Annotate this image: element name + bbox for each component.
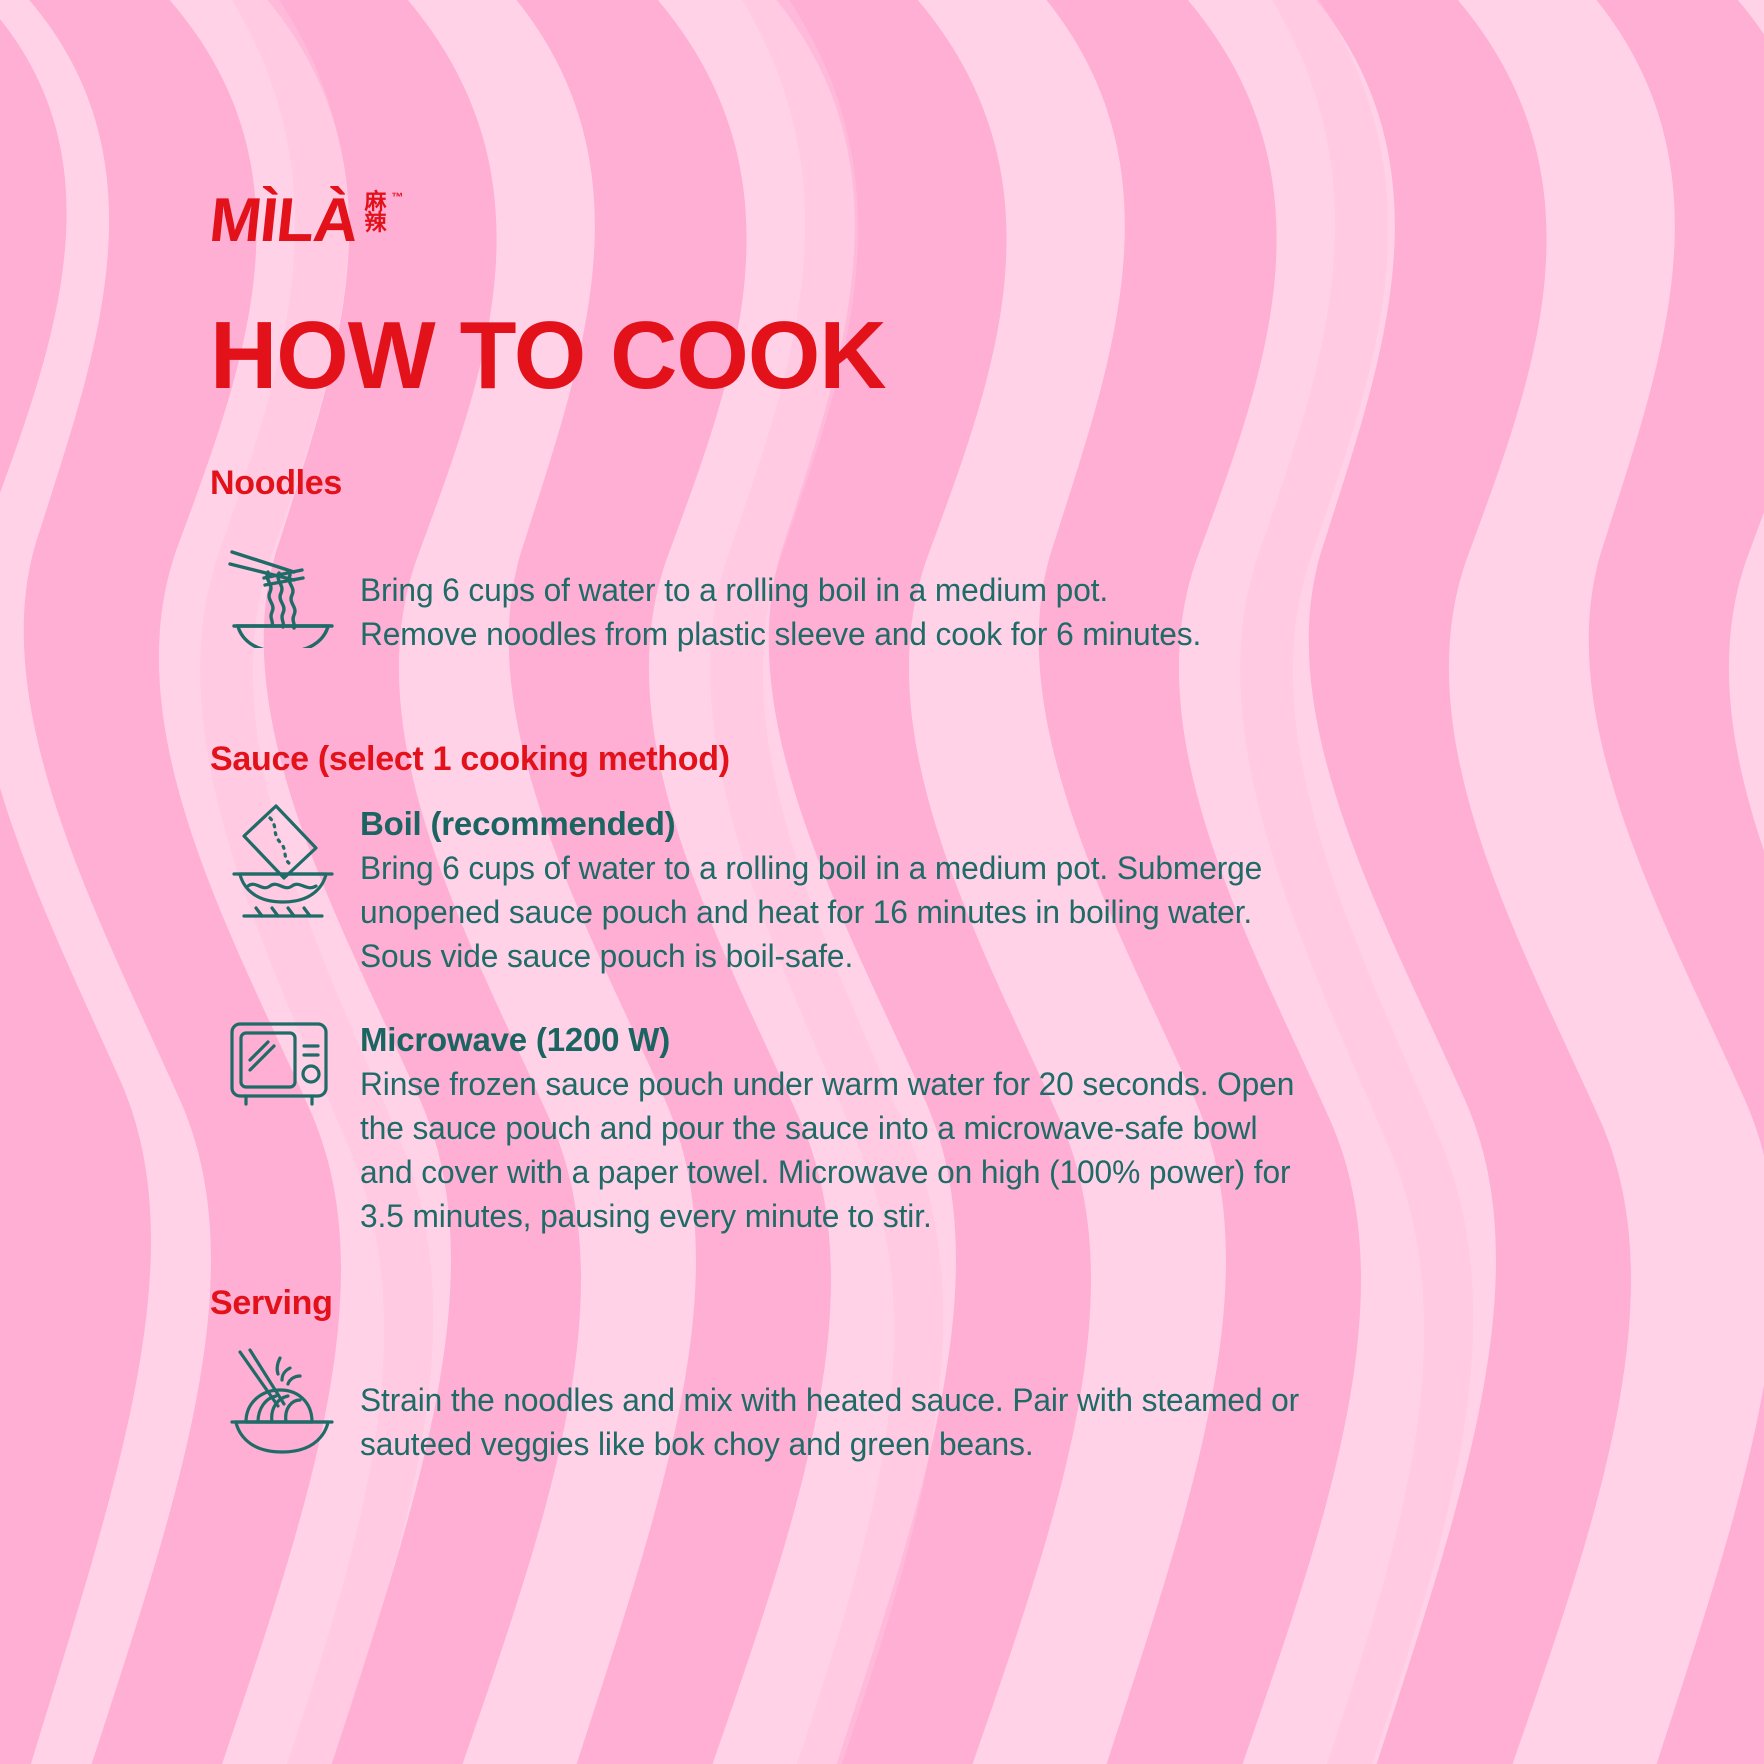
trademark-symbol: ™ xyxy=(392,191,404,203)
brand-cjk-bottom: 辣 xyxy=(365,213,387,233)
icon-cell xyxy=(210,1016,360,1112)
card-content: MÌLÀ 麻 辣 ™ HOW TO COOK Noodles xyxy=(0,0,1764,1466)
text-cell: Bring 6 cups of water to a rolling boil … xyxy=(360,528,1210,656)
instruction-line: Remove noodles from plastic sleeve and c… xyxy=(360,612,1201,656)
brand-wordmark: MÌLÀ xyxy=(207,190,361,252)
instruction-line: unopened sauce pouch and heat for 16 min… xyxy=(360,890,1262,934)
text-cell: Strain the noodles and mix with heated s… xyxy=(360,1344,1309,1466)
section-heading-sauce: Sauce (select 1 cooking method) xyxy=(210,740,1764,778)
microwave-oven-icon xyxy=(224,1016,334,1112)
instruction-row-boil: Boil (recommended) Bring 6 cups of water… xyxy=(210,800,1764,978)
section-heading-noodles: Noodles xyxy=(210,464,1764,502)
section-heading-serving: Serving xyxy=(210,1284,1764,1322)
recipe-card: MÌLÀ 麻 辣 ™ HOW TO COOK Noodles xyxy=(0,0,1764,1764)
instruction-line: sauteed veggies like bok choy and green … xyxy=(360,1422,1299,1466)
page-title: HOW TO COOK xyxy=(210,308,1717,404)
instruction-row-microwave: Microwave (1200 W) Rinse frozen sauce po… xyxy=(210,1016,1764,1238)
noodle-bowl-serving-icon xyxy=(224,1344,342,1462)
brand-logo: MÌLÀ 麻 辣 ™ xyxy=(210,190,1764,260)
text-cell: Microwave (1200 W) Rinse frozen sauce po… xyxy=(360,1016,1304,1238)
instruction-row-serving: Strain the noodles and mix with heated s… xyxy=(210,1344,1764,1466)
brand-cjk-top: 麻 xyxy=(365,192,387,212)
text-cell: Boil (recommended) Bring 6 cups of water… xyxy=(360,800,1271,978)
instruction-row-noodles: Bring 6 cups of water to a rolling boil … xyxy=(210,528,1764,656)
instruction-line: Rinse frozen sauce pouch under warm wate… xyxy=(360,1062,1294,1106)
instruction-line: and cover with a paper towel. Microwave … xyxy=(360,1150,1294,1194)
noodle-bowl-chopsticks-icon xyxy=(224,528,342,648)
brand-cjk-stamp: 麻 辣 xyxy=(365,192,387,233)
method-title-boil: Boil (recommended) xyxy=(360,802,1271,846)
icon-cell xyxy=(210,1344,360,1462)
icon-cell xyxy=(210,528,360,648)
instruction-line: Sous vide sauce pouch is boil-safe. xyxy=(360,934,1262,978)
sauce-pouch-pot-icon xyxy=(224,800,342,918)
method-title-microwave: Microwave (1200 W) xyxy=(360,1018,1304,1062)
instruction-line: Strain the noodles and mix with heated s… xyxy=(360,1378,1299,1422)
instruction-line: 3.5 minutes, pausing every minute to sti… xyxy=(360,1194,1294,1238)
instruction-line: Bring 6 cups of water to a rolling boil … xyxy=(360,846,1262,890)
icon-cell xyxy=(210,800,360,918)
instruction-line: the sauce pouch and pour the sauce into … xyxy=(360,1106,1294,1150)
instruction-line: Bring 6 cups of water to a rolling boil … xyxy=(360,568,1201,612)
